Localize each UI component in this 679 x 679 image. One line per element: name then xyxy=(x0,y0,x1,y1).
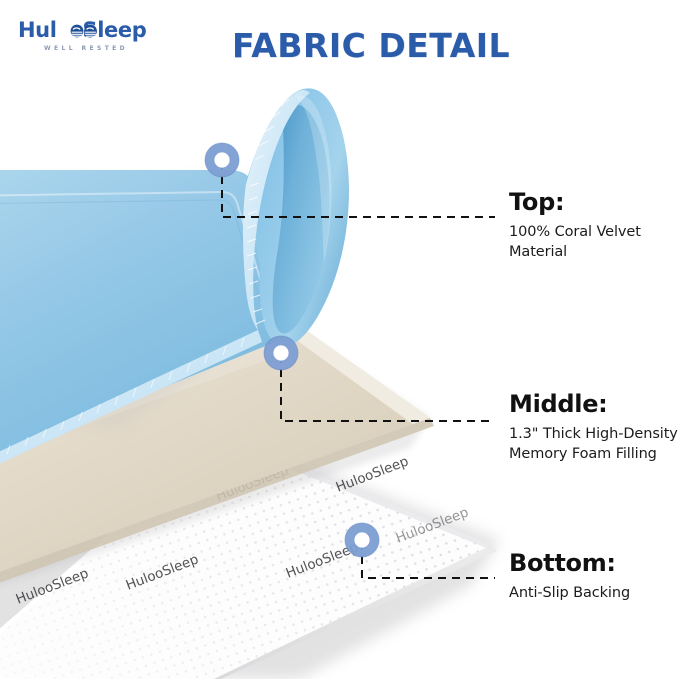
callout-bottom: Bottom: Anti-Slip Backing xyxy=(509,551,679,603)
callout-top-body: 100% Coral Velvet Material xyxy=(509,222,679,262)
callout-top-heading: Top: xyxy=(509,190,679,215)
callout-middle: Middle: 1.3" Thick High-Density Memory F… xyxy=(509,392,679,464)
marker-hotspot-top[interactable] xyxy=(205,143,239,177)
marker-hotspot-middle[interactable] xyxy=(264,336,298,370)
callout-bottom-heading: Bottom: xyxy=(509,551,679,576)
callout-middle-heading: Middle: xyxy=(509,392,679,417)
callout-top: Top: 100% Coral Velvet Material xyxy=(509,190,679,262)
callout-middle-body: 1.3" Thick High-Density Memory Foam Fill… xyxy=(509,424,679,464)
callout-bottom-body: Anti-Slip Backing xyxy=(509,583,679,603)
marker-hotspot-bottom[interactable] xyxy=(345,523,379,557)
